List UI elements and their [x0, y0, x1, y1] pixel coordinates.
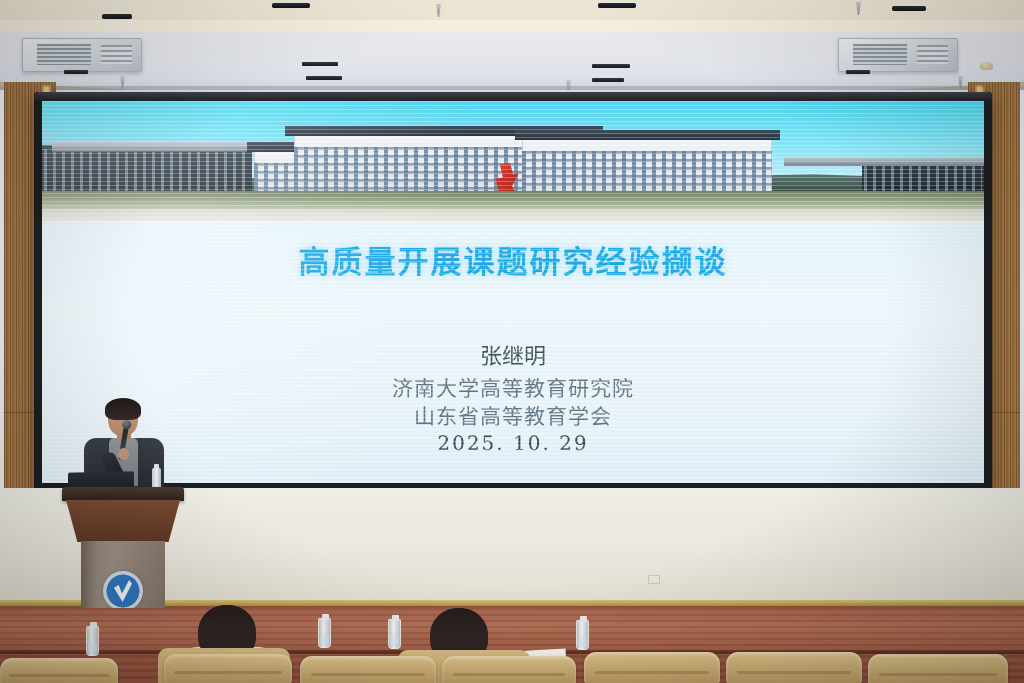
air-conditioner-cassette-icon	[22, 38, 142, 72]
campus-panorama-photo	[42, 101, 984, 221]
slide-title: 高质量开展课题研究经验撷谈	[42, 237, 984, 282]
ceiling-speaker-icon	[980, 62, 993, 70]
podium-body	[66, 500, 180, 542]
building-windows	[522, 151, 772, 195]
audience-chair[interactable]	[442, 656, 576, 683]
water-bottle	[318, 618, 331, 648]
audience-chair[interactable]	[726, 652, 862, 683]
building-main-right-wing	[522, 139, 772, 197]
hair	[105, 398, 141, 420]
skybridge-left	[52, 142, 252, 151]
audience-chair[interactable]	[300, 656, 436, 683]
slot-light-icon	[272, 3, 310, 8]
audience-chair[interactable]	[0, 658, 118, 683]
ceiling-vent-icon	[592, 78, 624, 82]
campus-plaza	[42, 209, 984, 221]
ceiling-vent-icon	[306, 76, 342, 80]
slot-light-icon	[598, 3, 636, 8]
building-roof	[515, 130, 780, 140]
ceiling-vent-icon	[64, 70, 88, 74]
skybridge-right	[784, 157, 984, 165]
audience-chair[interactable]	[584, 652, 720, 683]
ceiling-vent-icon	[846, 70, 870, 74]
hand	[118, 448, 129, 460]
water-bottle	[576, 620, 589, 650]
conference-hall-scene: 高质量开展课题研究经验撷谈 张继明 济南大学高等教育研究院 山东省高等教育学会 …	[0, 0, 1024, 683]
university-crest-icon	[103, 571, 143, 611]
slot-light-icon	[892, 6, 926, 11]
slide-date: 2025. 10. 29	[42, 431, 984, 455]
water-bottle	[388, 619, 401, 649]
building-windows	[44, 149, 250, 195]
podium-top	[62, 487, 184, 501]
audience-chair[interactable]	[164, 654, 292, 683]
presentation-slide[interactable]: 高质量开展课题研究经验撷谈 张继明 济南大学高等教育研究院 山东省高等教育学会 …	[42, 101, 984, 483]
wall-socket-icon	[648, 575, 660, 584]
slide-organization-1: 济南大学高等教育研究院	[42, 373, 984, 403]
slot-light-icon	[102, 14, 132, 19]
ceiling-vent-icon	[592, 64, 630, 68]
audience-desk-ledge	[0, 608, 1024, 654]
ceiling-vent-icon	[302, 62, 338, 66]
slide-presenter-name: 张继明	[42, 339, 984, 371]
building-windows	[864, 161, 982, 195]
air-conditioner-cassette-icon	[838, 38, 958, 72]
audience-chair[interactable]	[868, 654, 1008, 683]
building-left-dark	[42, 145, 252, 197]
slide-organization-2: 山东省高等教育学会	[42, 401, 984, 431]
water-bottle	[86, 626, 99, 656]
led-screen-bezel: 高质量开展课题研究经验撷谈 张继明 济南大学高等教育研究院 山东省高等教育学会 …	[34, 92, 992, 490]
